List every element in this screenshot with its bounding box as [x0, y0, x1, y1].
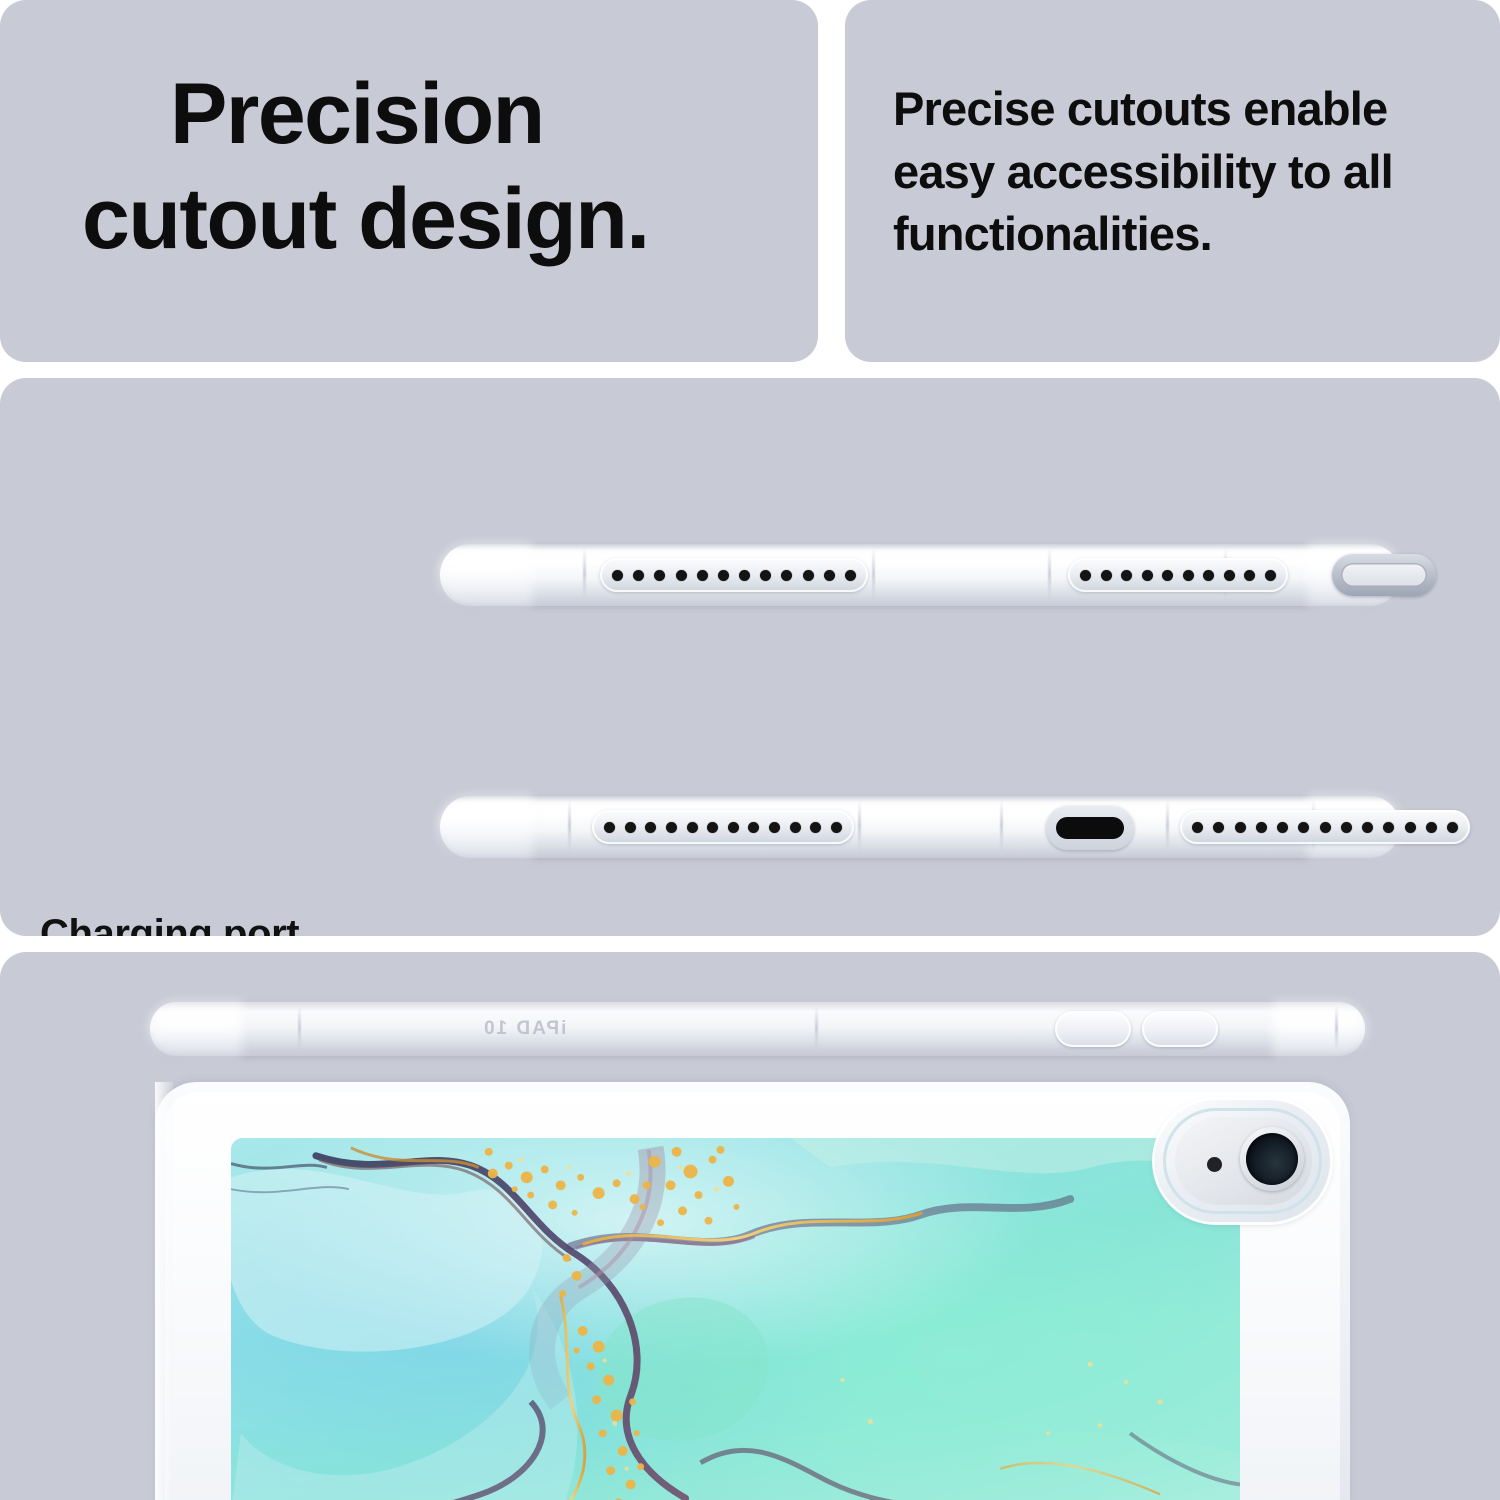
speaker-hole — [666, 822, 677, 833]
microphone-hole-icon — [1207, 1157, 1222, 1172]
rear-camera-module — [1155, 1100, 1330, 1222]
case-model-imprint: iPAD 10 — [482, 1018, 566, 1040]
case-seam — [872, 548, 875, 600]
marble-pattern-svg — [231, 1138, 1240, 1500]
case-seam — [1166, 800, 1169, 852]
case-seam — [1048, 548, 1051, 600]
speaker-hole — [697, 570, 708, 581]
speaker-hole — [748, 822, 759, 833]
speaker-hole — [1224, 570, 1235, 581]
speaker-hole — [1256, 822, 1267, 833]
speaker-hole — [1298, 822, 1309, 833]
case-seam — [815, 1006, 818, 1050]
speaker-hole — [1213, 822, 1224, 833]
speaker-hole — [1203, 570, 1214, 581]
ipad-case-back — [155, 1082, 1350, 1500]
headline-text: Precision cutout design. — [82, 62, 802, 272]
speaker-hole — [1341, 822, 1352, 833]
case-corner-right — [1273, 1002, 1365, 1056]
device-back-panel: iPAD 10 — [0, 952, 1500, 1500]
speaker-hole — [687, 822, 698, 833]
volume-up-button-cover — [1055, 1011, 1131, 1047]
case-seam — [568, 800, 571, 852]
speaker-hole — [781, 570, 792, 581]
speaker-hole — [625, 822, 636, 833]
speaker-hole — [769, 822, 780, 833]
speaker-hole — [831, 822, 842, 833]
speaker-hole — [1383, 822, 1394, 833]
speaker-hole — [676, 570, 687, 581]
speaker-hole — [718, 570, 729, 581]
volume-down-button-cover — [1142, 1011, 1218, 1047]
headline-line-1: Precision — [82, 62, 802, 167]
speaker-hole — [845, 570, 856, 581]
subhead-text: Precise cutouts enable easy accessibilit… — [893, 78, 1493, 266]
product-feature-image: Precision cutout design. Precise cutouts… — [0, 0, 1500, 1500]
speaker-hole — [739, 570, 750, 581]
speaker-grille-left — [600, 558, 868, 592]
speaker-hole — [1277, 822, 1288, 833]
usb-c-port-cutout — [1046, 806, 1134, 850]
case-edge-view-usbc-side — [440, 796, 1400, 858]
camera-lens-icon — [1240, 1127, 1304, 1191]
speaker-hole — [1244, 570, 1255, 581]
speaker-hole — [645, 822, 656, 833]
charging-port-label: Charging port — [40, 912, 299, 936]
case-seam — [858, 800, 861, 852]
speaker-hole — [790, 822, 801, 833]
speaker-hole — [1362, 822, 1373, 833]
speaker-hole — [1265, 570, 1276, 581]
case-top-edge-piece: iPAD 10 — [150, 1002, 1365, 1056]
speaker-hole — [633, 570, 644, 581]
speaker-hole — [1447, 822, 1458, 833]
speaker-hole — [654, 570, 665, 581]
speaker-hole — [824, 570, 835, 581]
headline-line-2: cutout design. — [82, 167, 802, 272]
power-button-cutout — [1332, 554, 1436, 596]
case-seam — [583, 548, 586, 600]
speaker-hole — [1426, 822, 1437, 833]
speaker-hole — [810, 822, 821, 833]
case-corner-left — [440, 796, 532, 858]
case-seam — [1000, 800, 1003, 852]
speaker-hole — [1320, 822, 1331, 833]
speaker-hole — [760, 570, 771, 581]
case-corner-left — [150, 1002, 242, 1056]
speaker-grille-right — [1180, 810, 1470, 844]
speaker-hole — [803, 570, 814, 581]
speaker-hole — [604, 822, 615, 833]
speaker-hole — [1101, 570, 1112, 581]
case-seam — [298, 1006, 301, 1050]
case-bumper-left-rail — [155, 1082, 173, 1500]
speaker-hole — [612, 570, 623, 581]
speaker-hole — [707, 822, 718, 833]
speaker-hole — [1162, 570, 1173, 581]
speaker-grille-left — [592, 810, 854, 844]
headline-panel: Precision cutout design. — [0, 0, 818, 362]
case-corner-left — [440, 544, 532, 606]
speaker-grille-right — [1068, 558, 1288, 592]
speaker-hole — [1183, 570, 1194, 581]
speaker-hole — [1142, 570, 1153, 581]
speaker-hole — [1405, 822, 1416, 833]
speaker-hole — [728, 822, 739, 833]
case-seam — [1335, 1006, 1338, 1050]
marble-back-finish — [231, 1138, 1240, 1500]
speaker-hole — [1080, 570, 1091, 581]
speaker-hole — [1235, 822, 1246, 833]
charging-port-panel: Charging port — [0, 378, 1500, 936]
case-edge-view-power-side — [440, 544, 1400, 606]
subhead-panel: Precise cutouts enable easy accessibilit… — [845, 0, 1500, 362]
speaker-hole — [1121, 570, 1132, 581]
speaker-hole — [1192, 822, 1203, 833]
